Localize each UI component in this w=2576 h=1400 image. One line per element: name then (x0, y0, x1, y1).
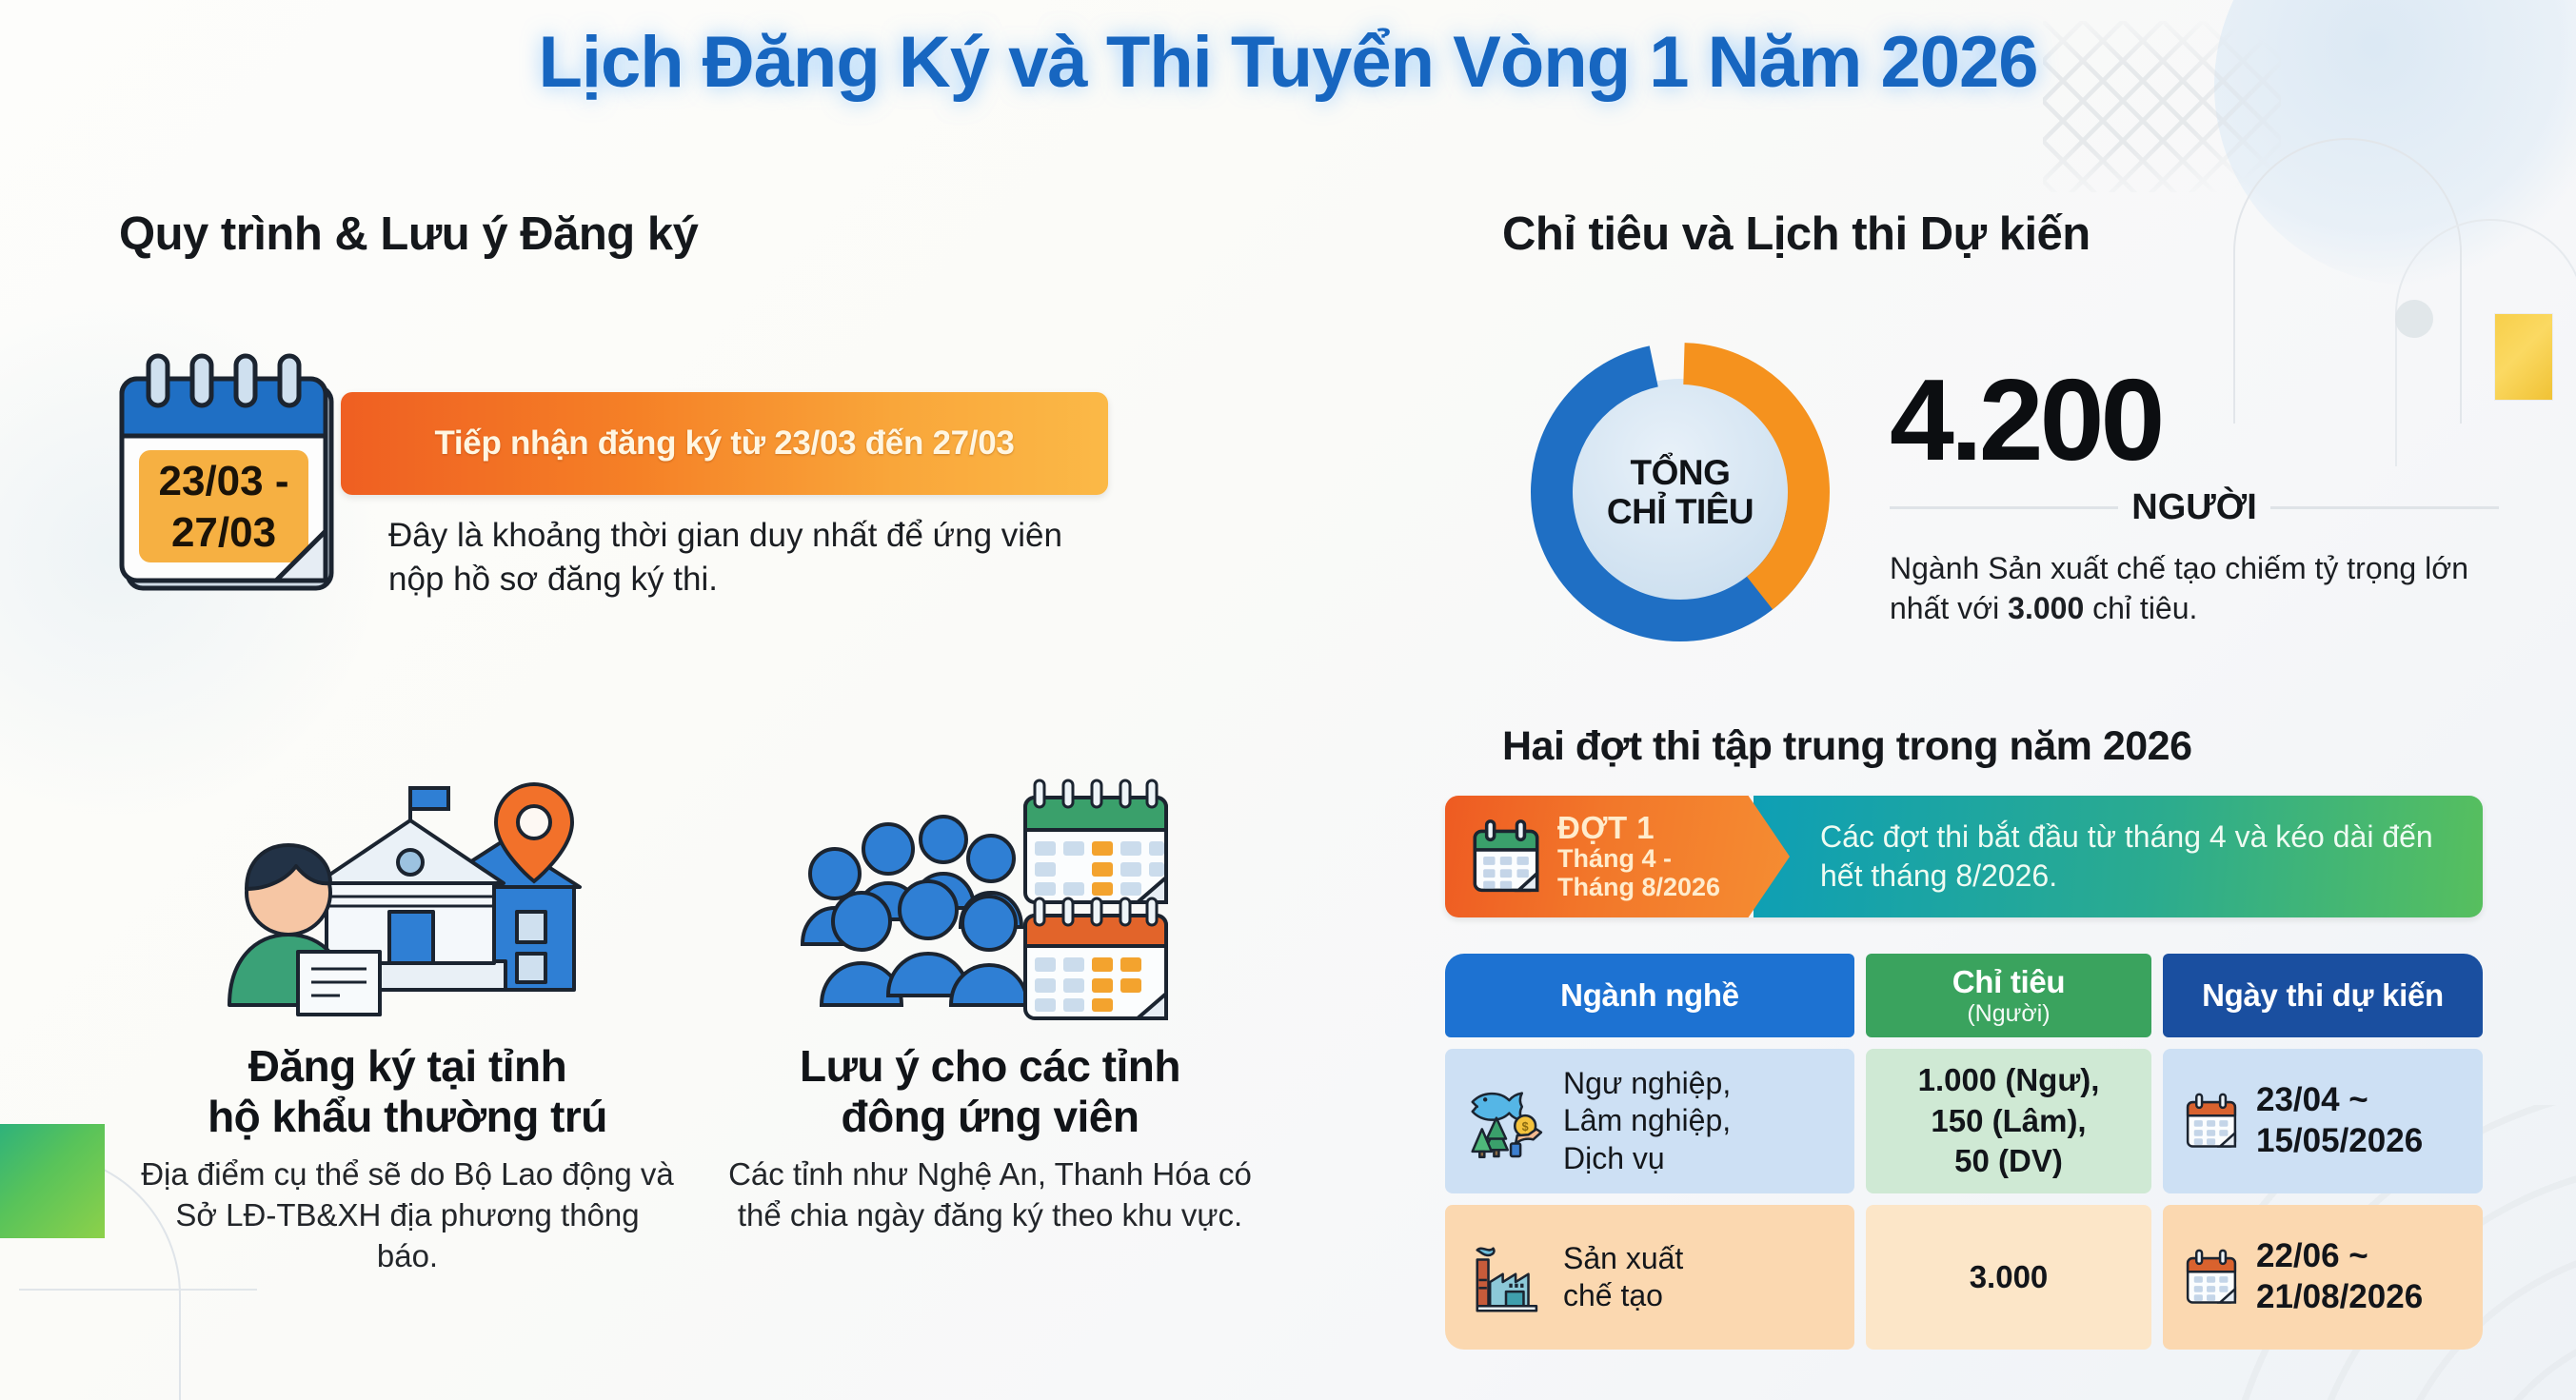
note-highlight: 3.000 (2008, 591, 2084, 625)
calendar-date-line1: 23/03 - (159, 458, 289, 504)
note-suffix: chỉ tiêu. (2084, 591, 2197, 625)
sector-label: Sản xuất chế tạo (1563, 1240, 1683, 1314)
date-line1: 22/06 ~ (2256, 1237, 2368, 1274)
calendar-date-line2: 27/03 (171, 509, 276, 556)
calendar-icon: 23/03 - 27/03 (116, 350, 362, 602)
date-line1: 23/04 ~ (2256, 1081, 2368, 1118)
sector-line3: Dịch vụ (1563, 1141, 1665, 1175)
exam-schedule-table: Ngành nghề Chỉ tiêu (Người) Ngày thi dự … (1445, 954, 2483, 1361)
quota-donut-chart: TỔNG CHỈ TIÊU (1527, 339, 1833, 645)
quota-line3: 50 (DV) (1954, 1143, 2063, 1178)
date-value: 23/04 ~ 15/05/2026 (2256, 1080, 2423, 1161)
column-header-date-label: Ngày thi dự kiến (2202, 977, 2444, 1014)
card-title-line1: Đăng ký tại tỉnh (248, 1041, 566, 1091)
batch-calendar-icon (1470, 818, 1542, 896)
date-line2: 21/08/2026 (2256, 1278, 2423, 1315)
sector-line1: Sản xuất (1563, 1241, 1683, 1275)
background-yellow-square (2495, 314, 2552, 400)
sector-line1: Ngư nghiệp, (1563, 1066, 1731, 1100)
card-description: Địa điểm cụ thể sẽ do Bộ Lao động và Sở … (141, 1154, 674, 1277)
divider-right (2270, 506, 2499, 509)
column-header-quota-unit: (Người) (1967, 1000, 2050, 1028)
sector-line2: Lâm nghiệp, (1563, 1103, 1731, 1137)
donut-center-line2: CHỈ TIÊU (1607, 492, 1754, 531)
registration-window-text: Tiếp nhận đăng ký từ 23/03 đến 27/03 (434, 424, 1014, 463)
table-row: Sản xuất chế tạo 3.000 (1445, 1205, 2483, 1350)
batch-tag-line3: Tháng 8/2026 (1557, 874, 1720, 902)
background-green-square (0, 1124, 105, 1238)
column-header-date: Ngày thi dự kiến (2163, 954, 2483, 1037)
column-header-quota: Chỉ tiêu (Người) (1866, 954, 2151, 1037)
cell-sector: Sản xuất chế tạo (1445, 1205, 1854, 1350)
infographic-canvas: Lịch Đăng Ký và Thi Tuyển Vòng 1 Năm 202… (0, 0, 2576, 1400)
person-document-building-icon (141, 761, 674, 1028)
left-section-heading: Quy trình & Lưu ý Đăng ký (119, 207, 698, 261)
info-card-province-registration: Đăng ký tại tỉnh hộ khẩu thường trú Địa … (141, 761, 674, 1276)
sector-label: Ngư nghiệp, Lâm nghiệp, Dịch vụ (1563, 1065, 1731, 1176)
svg-text:$: $ (1522, 1120, 1529, 1134)
sector-line2: chế tạo (1563, 1278, 1663, 1312)
page-title: Lịch Đăng Ký và Thi Tuyển Vòng 1 Năm 202… (0, 21, 2576, 104)
batch-tag-text: ĐỢT 1 Tháng 4 - Tháng 8/2026 (1557, 811, 1720, 902)
fishery-forestry-service-icon: $ (1466, 1081, 1546, 1161)
card-title-line1: Lưu ý cho các tỉnh (800, 1041, 1180, 1091)
divider-left (1890, 506, 2118, 509)
total-quota-number: 4.200 (1890, 362, 2499, 478)
column-header-sector: Ngành nghề (1445, 954, 1854, 1037)
registration-window-banner: Tiếp nhận đăng ký từ 23/03 đến 27/03 (341, 392, 1108, 495)
quota-line1: 1.000 (Ngư), (1918, 1062, 2100, 1097)
batch-description-panel: Các đợt thi bắt đầu từ tháng 4 và kéo dà… (1754, 796, 2483, 917)
card-description: Các tỉnh như Nghệ An, Thanh Hóa có thể c… (723, 1154, 1257, 1236)
cell-date: 23/04 ~ 15/05/2026 (2163, 1049, 2483, 1193)
batch-tag: ĐỢT 1 Tháng 4 - Tháng 8/2026 (1445, 796, 1790, 917)
crowd-calendars-icon (723, 761, 1257, 1028)
registration-note: Đây là khoảng thời gian duy nhất để ứng … (388, 514, 1093, 601)
donut-center-line1: TỔNG (1631, 453, 1731, 492)
batch-ribbon: ĐỢT 1 Tháng 4 - Tháng 8/2026 Các đợt thi… (1445, 796, 2483, 917)
table-row: $ Ngư nghiệp, Lâm nghiệp, Dịch vụ 1.000 … (1445, 1049, 2483, 1193)
card-title-line2: hộ khẩu thường trú (208, 1092, 607, 1141)
donut-center-label: TỔNG CHỈ TIÊU (1527, 339, 1833, 645)
cell-quota: 1.000 (Ngư), 150 (Lâm), 50 (DV) (1866, 1049, 2151, 1193)
column-header-sector-label: Ngành nghề (1560, 977, 1739, 1014)
info-card-crowded-provinces: Lưu ý cho các tỉnh đông ứng viên Các tỉn… (723, 761, 1257, 1236)
quota-value: 1.000 (Ngư), 150 (Lâm), 50 (DV) (1918, 1060, 2100, 1183)
exam-date-calendar-icon (2184, 1247, 2239, 1308)
right-section-heading: Chỉ tiêu và Lịch thi Dự kiến (1502, 207, 2091, 261)
background-line-bottom-left (19, 1289, 257, 1291)
total-quota-unit-row: NGƯỜI (1890, 487, 2499, 528)
exam-date-calendar-icon (2184, 1091, 2239, 1152)
card-title: Lưu ý cho các tỉnh đông ứng viên (723, 1041, 1257, 1143)
card-title: Đăng ký tại tỉnh hộ khẩu thường trú (141, 1041, 674, 1143)
cell-quota: 3.000 (1866, 1205, 2151, 1350)
batch-tag-line2: Tháng 4 - (1557, 845, 1720, 874)
manufacturing-factory-icon (1466, 1237, 1546, 1317)
cell-sector: $ Ngư nghiệp, Lâm nghiệp, Dịch vụ (1445, 1049, 1854, 1193)
date-line2: 15/05/2026 (2256, 1122, 2423, 1159)
total-quota-unit: NGƯỜI (2131, 487, 2257, 528)
card-title-line2: đông ứng viên (841, 1092, 1139, 1141)
quota-line2: 150 (Lâm), (1931, 1103, 2086, 1138)
date-value: 22/06 ~ 21/08/2026 (2256, 1236, 2423, 1317)
quota-value: 3.000 (1970, 1257, 2049, 1298)
total-quota-block: 4.200 NGƯỜI Ngành Sản xuất chế tạo chiếm… (1890, 362, 2499, 628)
batch-tag-line1: ĐỢT 1 (1557, 811, 1720, 845)
batch-description: Các đợt thi bắt đầu từ tháng 4 và kéo dà… (1820, 818, 2483, 896)
table-header-row: Ngành nghề Chỉ tiêu (Người) Ngày thi dự … (1445, 954, 2483, 1037)
cell-date: 22/06 ~ 21/08/2026 (2163, 1205, 2483, 1350)
batch-section-heading: Hai đợt thi tập trung trong năm 2026 (1502, 723, 2192, 770)
background-grey-circle (2395, 300, 2433, 338)
column-header-quota-label: Chỉ tiêu (1952, 964, 2066, 1000)
total-quota-note: Ngành Sản xuất chế tạo chiếm tỷ trọng lớ… (1890, 549, 2499, 628)
